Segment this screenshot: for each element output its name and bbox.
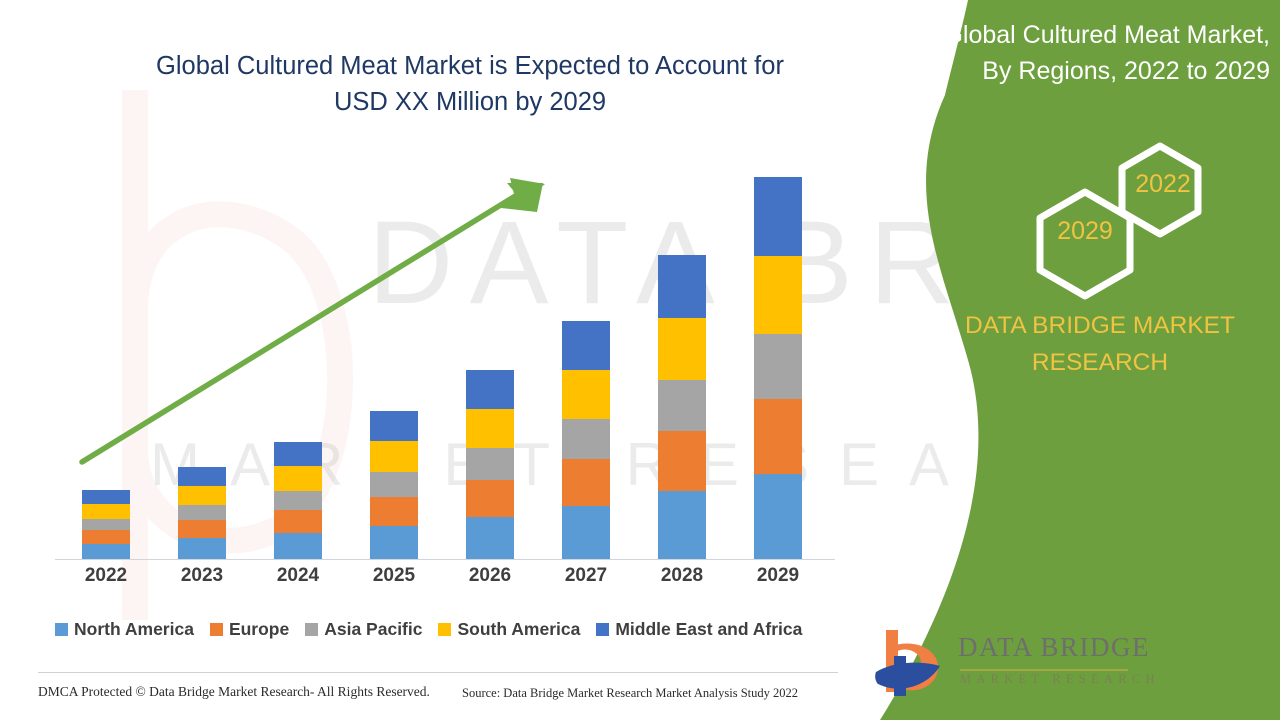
bar-segment bbox=[754, 474, 802, 559]
bar-segment bbox=[466, 480, 514, 517]
bar-segment bbox=[466, 409, 514, 448]
panel-title-line2: By Regions, 2022 to 2029 bbox=[870, 54, 1270, 90]
chart-title-line1: Global Cultured Meat Market is Expected … bbox=[60, 48, 880, 84]
infographic-slide: DATA BRIDGE MARKET RESEARCH Global Cultu… bbox=[0, 0, 1280, 720]
bar-segment bbox=[370, 526, 418, 559]
bar-segment bbox=[466, 448, 514, 480]
bar-segment bbox=[82, 544, 130, 559]
bar-segment bbox=[178, 486, 226, 505]
chart-title: Global Cultured Meat Market is Expected … bbox=[60, 48, 880, 120]
bar-segment bbox=[178, 467, 226, 486]
bar-segment bbox=[274, 466, 322, 490]
bar-2023 bbox=[178, 467, 226, 559]
bar-segment bbox=[562, 506, 610, 559]
x-axis-label-2025: 2025 bbox=[354, 565, 434, 587]
x-axis-label-2023: 2023 bbox=[162, 565, 242, 587]
hexagon-2029-label: 2029 bbox=[1035, 217, 1135, 246]
x-axis-line bbox=[55, 559, 835, 560]
footer-divider bbox=[38, 672, 838, 673]
bar-segment bbox=[466, 370, 514, 409]
brand-line2: RESEARCH bbox=[935, 345, 1265, 382]
bar-segment bbox=[562, 419, 610, 459]
legend-label: Asia Pacific bbox=[324, 619, 422, 640]
bar-segment bbox=[178, 520, 226, 538]
chart-title-line2: USD XX Million by 2029 bbox=[60, 84, 880, 120]
x-axis-label-2028: 2028 bbox=[642, 565, 722, 587]
bar-segment bbox=[658, 255, 706, 318]
legend-item[interactable]: Asia Pacific bbox=[305, 619, 422, 640]
bar-segment bbox=[82, 530, 130, 543]
branding-panel: Global Cultured Meat Market, By Regions,… bbox=[850, 0, 1280, 720]
legend-swatch-icon bbox=[596, 623, 609, 636]
chart-panel: DATA BRIDGE MARKET RESEARCH Global Cultu… bbox=[0, 0, 960, 720]
x-axis-label-2026: 2026 bbox=[450, 565, 530, 587]
bar-segment bbox=[178, 505, 226, 520]
bar-segment bbox=[562, 321, 610, 370]
bar-2025 bbox=[370, 411, 418, 559]
bar-segment bbox=[370, 441, 418, 472]
bar-segment bbox=[370, 472, 418, 497]
legend-item[interactable]: South America bbox=[438, 619, 580, 640]
x-axis-labels: 20222023202420252026202720282029 bbox=[55, 565, 835, 595]
bar-segment bbox=[274, 442, 322, 466]
hexagon-2022-label: 2022 bbox=[1118, 170, 1208, 199]
legend-label: Middle East and Africa bbox=[615, 619, 802, 640]
bar-segment bbox=[274, 510, 322, 532]
legend-label: North America bbox=[74, 619, 194, 640]
legend-item[interactable]: North America bbox=[55, 619, 194, 640]
bar-segment bbox=[274, 533, 322, 559]
bar-segment bbox=[370, 497, 418, 526]
x-axis-label-2029: 2029 bbox=[738, 565, 818, 587]
panel-title: Global Cultured Meat Market, By Regions,… bbox=[870, 18, 1270, 89]
bar-segment bbox=[658, 491, 706, 559]
bar-segment bbox=[562, 459, 610, 506]
stacked-bar-chart bbox=[55, 150, 835, 560]
legend-swatch-icon bbox=[210, 623, 223, 636]
brand-line1: DATA BRIDGE MARKET bbox=[935, 308, 1265, 345]
bar-2028 bbox=[658, 255, 706, 559]
footer-copyright: DMCA Protected © Data Bridge Market Rese… bbox=[38, 684, 430, 700]
bar-2026 bbox=[466, 370, 514, 559]
bar-segment bbox=[658, 318, 706, 380]
bar-segment bbox=[754, 177, 802, 256]
legend-swatch-icon bbox=[438, 623, 451, 636]
legend-item[interactable]: Europe bbox=[210, 619, 289, 640]
footer-source: Source: Data Bridge Market Research Mark… bbox=[462, 686, 798, 701]
bar-segment bbox=[562, 370, 610, 419]
bar-segment bbox=[274, 491, 322, 511]
logo-title: DATA BRIDGE bbox=[958, 632, 1150, 663]
legend-swatch-icon bbox=[55, 623, 68, 636]
bar-segment bbox=[82, 490, 130, 504]
x-axis-label-2027: 2027 bbox=[546, 565, 626, 587]
bar-segment bbox=[370, 411, 418, 442]
bar-segment bbox=[658, 431, 706, 490]
bar-2024 bbox=[274, 442, 322, 559]
bar-2022 bbox=[82, 490, 130, 559]
bar-segment bbox=[754, 399, 802, 474]
legend-item[interactable]: Middle East and Africa bbox=[596, 619, 802, 640]
logo-subtitle: MARKET RESEARCH bbox=[960, 672, 1160, 687]
logo-divider bbox=[960, 669, 1128, 671]
x-axis-label-2022: 2022 bbox=[66, 565, 146, 587]
bar-segment bbox=[754, 334, 802, 399]
brand-name: DATA BRIDGE MARKET RESEARCH bbox=[935, 308, 1265, 382]
bar-2029 bbox=[754, 177, 802, 559]
chart-legend: North AmericaEuropeAsia PacificSouth Ame… bbox=[55, 616, 845, 642]
bar-segment bbox=[82, 519, 130, 531]
bar-segment bbox=[466, 517, 514, 559]
legend-label: South America bbox=[457, 619, 580, 640]
bar-segment bbox=[82, 504, 130, 518]
bar-2027 bbox=[562, 321, 610, 559]
data-bridge-logo: DATA BRIDGE MARKET RESEARCH bbox=[868, 622, 1118, 704]
bar-segment bbox=[754, 256, 802, 334]
legend-swatch-icon bbox=[305, 623, 318, 636]
panel-title-line1: Global Cultured Meat Market, bbox=[870, 18, 1270, 54]
legend-label: Europe bbox=[229, 619, 289, 640]
x-axis-label-2024: 2024 bbox=[258, 565, 338, 587]
bar-segment bbox=[178, 538, 226, 559]
bar-segment bbox=[658, 380, 706, 431]
